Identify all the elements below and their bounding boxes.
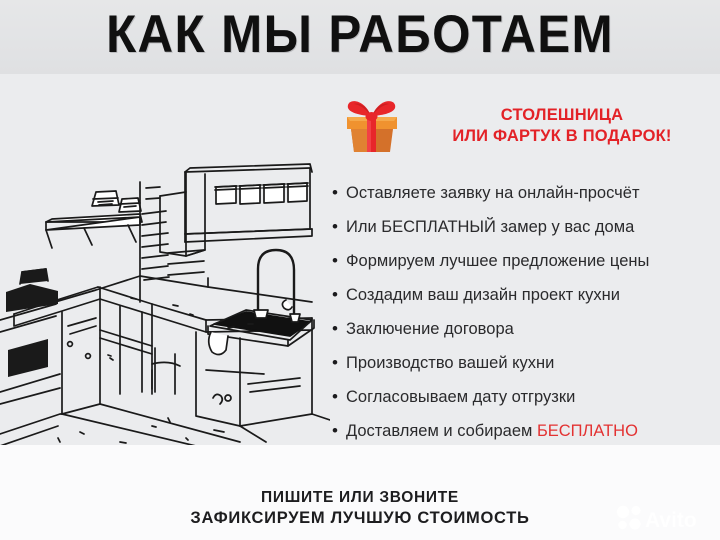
step-label: Или БЕСПЛАТНЫЙ замер у вас дома: [346, 210, 634, 244]
promo-line-1: СТОЛЕШНИЦА: [412, 105, 712, 126]
step-accent-label: БЕСПЛАТНО: [537, 422, 638, 440]
poster-root: КАК МЫ РАБОТАЕМ: [0, 0, 720, 540]
avito-watermark: Avito: [614, 504, 710, 534]
page-title: КАК МЫ РАБОТАЕМ: [25, 4, 695, 66]
step-label: Доставляем и собираем БЕСПЛАТНО: [346, 414, 638, 448]
avito-logo-icon: Avito: [614, 504, 710, 534]
bullet-icon: •: [332, 176, 346, 210]
promo-line-2: ИЛИ ФАРТУК В ПОДАРОК!: [412, 126, 712, 147]
bullet-icon: •: [332, 244, 346, 278]
bullet-icon: •: [332, 278, 346, 312]
svg-text:Avito: Avito: [645, 509, 697, 532]
step-item: •Доставляем и собираем БЕСПЛАТНО: [332, 414, 720, 448]
footer-line-1: ПИШИТЕ ИЛИ ЗВОНИТЕ: [0, 488, 720, 508]
step-item: •Формируем лучшее предложение цены: [332, 244, 720, 278]
step-label: Создадим ваш дизайн проект кухни: [346, 278, 620, 312]
step-label: Заключение договора: [346, 312, 514, 346]
step-item: •Создадим ваш дизайн проект кухни: [332, 278, 720, 312]
step-label: Формируем лучшее предложение цены: [346, 244, 649, 278]
steps-list: •Оставляете заявку на онлайн-просчёт•Или…: [332, 176, 720, 448]
bullet-icon: •: [332, 210, 346, 244]
promo-text: СТОЛЕШНИЦА ИЛИ ФАРТУК В ПОДАРОК!: [404, 105, 712, 147]
gift-box-svg: [340, 94, 404, 158]
footer-line-2: ЗАФИКСИРУЕМ ЛУЧШУЮ СТОИМОСТЬ: [0, 508, 720, 528]
promo-banner: СТОЛЕШНИЦА ИЛИ ФАРТУК В ПОДАРОК!: [340, 90, 712, 162]
step-item: •Согласовываем дату отгрузки: [332, 380, 720, 414]
bullet-icon: •: [332, 380, 346, 414]
footer-text: ПИШИТЕ ИЛИ ЗВОНИТЕ ЗАФИКСИРУЕМ ЛУЧШУЮ СТ…: [0, 488, 720, 528]
bullet-icon: •: [332, 414, 346, 448]
step-label: Согласовываем дату отгрузки: [346, 380, 575, 414]
bullet-icon: •: [332, 346, 346, 380]
step-item: •Оставляете заявку на онлайн-просчёт: [332, 176, 720, 210]
kitchen-illustration: [0, 74, 330, 445]
kitchen-line-drawing-svg: [0, 74, 330, 445]
step-label: Оставляете заявку на онлайн-просчёт: [346, 176, 640, 210]
gift-box-icon: [340, 94, 404, 158]
step-label: Производство вашей кухни: [346, 346, 554, 380]
step-item: •Заключение договора: [332, 312, 720, 346]
bullet-icon: •: [332, 312, 346, 346]
step-item: •Или БЕСПЛАТНЫЙ замер у вас дома: [332, 210, 720, 244]
step-item: •Производство вашей кухни: [332, 346, 720, 380]
